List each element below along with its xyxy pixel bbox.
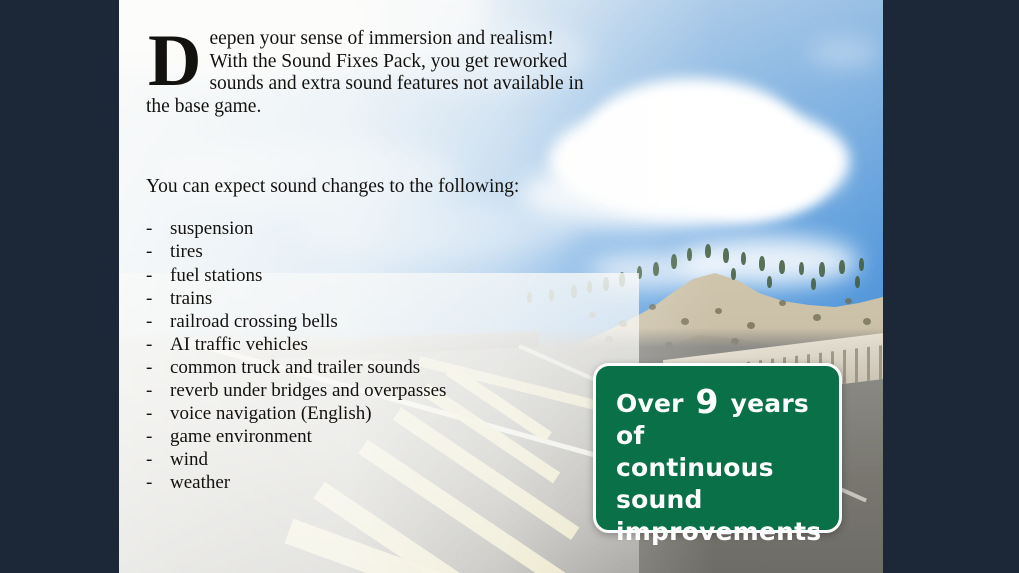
sound-changes-list: -suspension -tires -fuel stations -train…	[146, 217, 596, 494]
list-item: -railroad crossing bells	[146, 310, 596, 333]
bullet-marker: -	[146, 240, 170, 263]
list-item-label: fuel stations	[170, 264, 262, 287]
promo-image: Deepen your sense of immersion and reali…	[119, 0, 883, 573]
drop-cap: D	[146, 28, 209, 90]
sign-number: 9	[693, 382, 722, 421]
bullet-marker: -	[146, 310, 170, 333]
list-item-label: reverb under bridges and overpasses	[170, 379, 446, 402]
list-item-label: game environment	[170, 425, 312, 448]
list-item: -game environment	[146, 425, 596, 448]
sign-line3: sound	[616, 485, 703, 514]
sign-line4: improvements	[616, 517, 821, 546]
list-item: -common truck and trailer sounds	[146, 356, 596, 379]
list-item: -voice navigation (English)	[146, 402, 596, 425]
intro-paragraph: Deepen your sense of immersion and reali…	[146, 28, 596, 118]
list-item-label: voice navigation (English)	[170, 402, 372, 425]
list-item: -wind	[146, 448, 596, 471]
bullet-marker: -	[146, 333, 170, 356]
highway-sign: Over 9 years of continuous sound improve…	[593, 363, 842, 533]
bullet-marker: -	[146, 471, 170, 494]
list-item: -trains	[146, 287, 596, 310]
sign-text: Over 9 years of continuous sound improve…	[616, 388, 819, 548]
bullet-marker: -	[146, 448, 170, 471]
bullet-marker: -	[146, 217, 170, 240]
sign-line1-before: Over	[616, 389, 684, 418]
bullet-marker: -	[146, 264, 170, 287]
bullet-marker: -	[146, 356, 170, 379]
intro-text: eepen your sense of immersion and realis…	[146, 28, 584, 117]
list-item-label: AI traffic vehicles	[170, 333, 308, 356]
bullet-marker: -	[146, 425, 170, 448]
list-item-label: trains	[170, 287, 212, 310]
list-item-label: railroad crossing bells	[170, 310, 338, 333]
bullet-marker: -	[146, 379, 170, 402]
list-item: -tires	[146, 240, 596, 263]
list-item-label: weather	[170, 471, 230, 494]
list-item-label: wind	[170, 448, 208, 471]
list-item: -fuel stations	[146, 264, 596, 287]
list-item-label: tires	[170, 240, 203, 263]
sign-line2: continuous	[616, 453, 774, 482]
list-item: -AI traffic vehicles	[146, 333, 596, 356]
list-item: -suspension	[146, 217, 596, 240]
bullet-marker: -	[146, 287, 170, 310]
list-item: -reverb under bridges and overpasses	[146, 379, 596, 402]
promo-copy: Deepen your sense of immersion and reali…	[146, 28, 596, 495]
list-item-label: suspension	[170, 217, 253, 240]
list-item: -weather	[146, 471, 596, 494]
list-item-label: common truck and trailer sounds	[170, 356, 420, 379]
bullet-marker: -	[146, 402, 170, 425]
lead-text: You can expect sound changes to the foll…	[146, 176, 596, 198]
screenshot-root: Deepen your sense of immersion and reali…	[0, 0, 1019, 573]
